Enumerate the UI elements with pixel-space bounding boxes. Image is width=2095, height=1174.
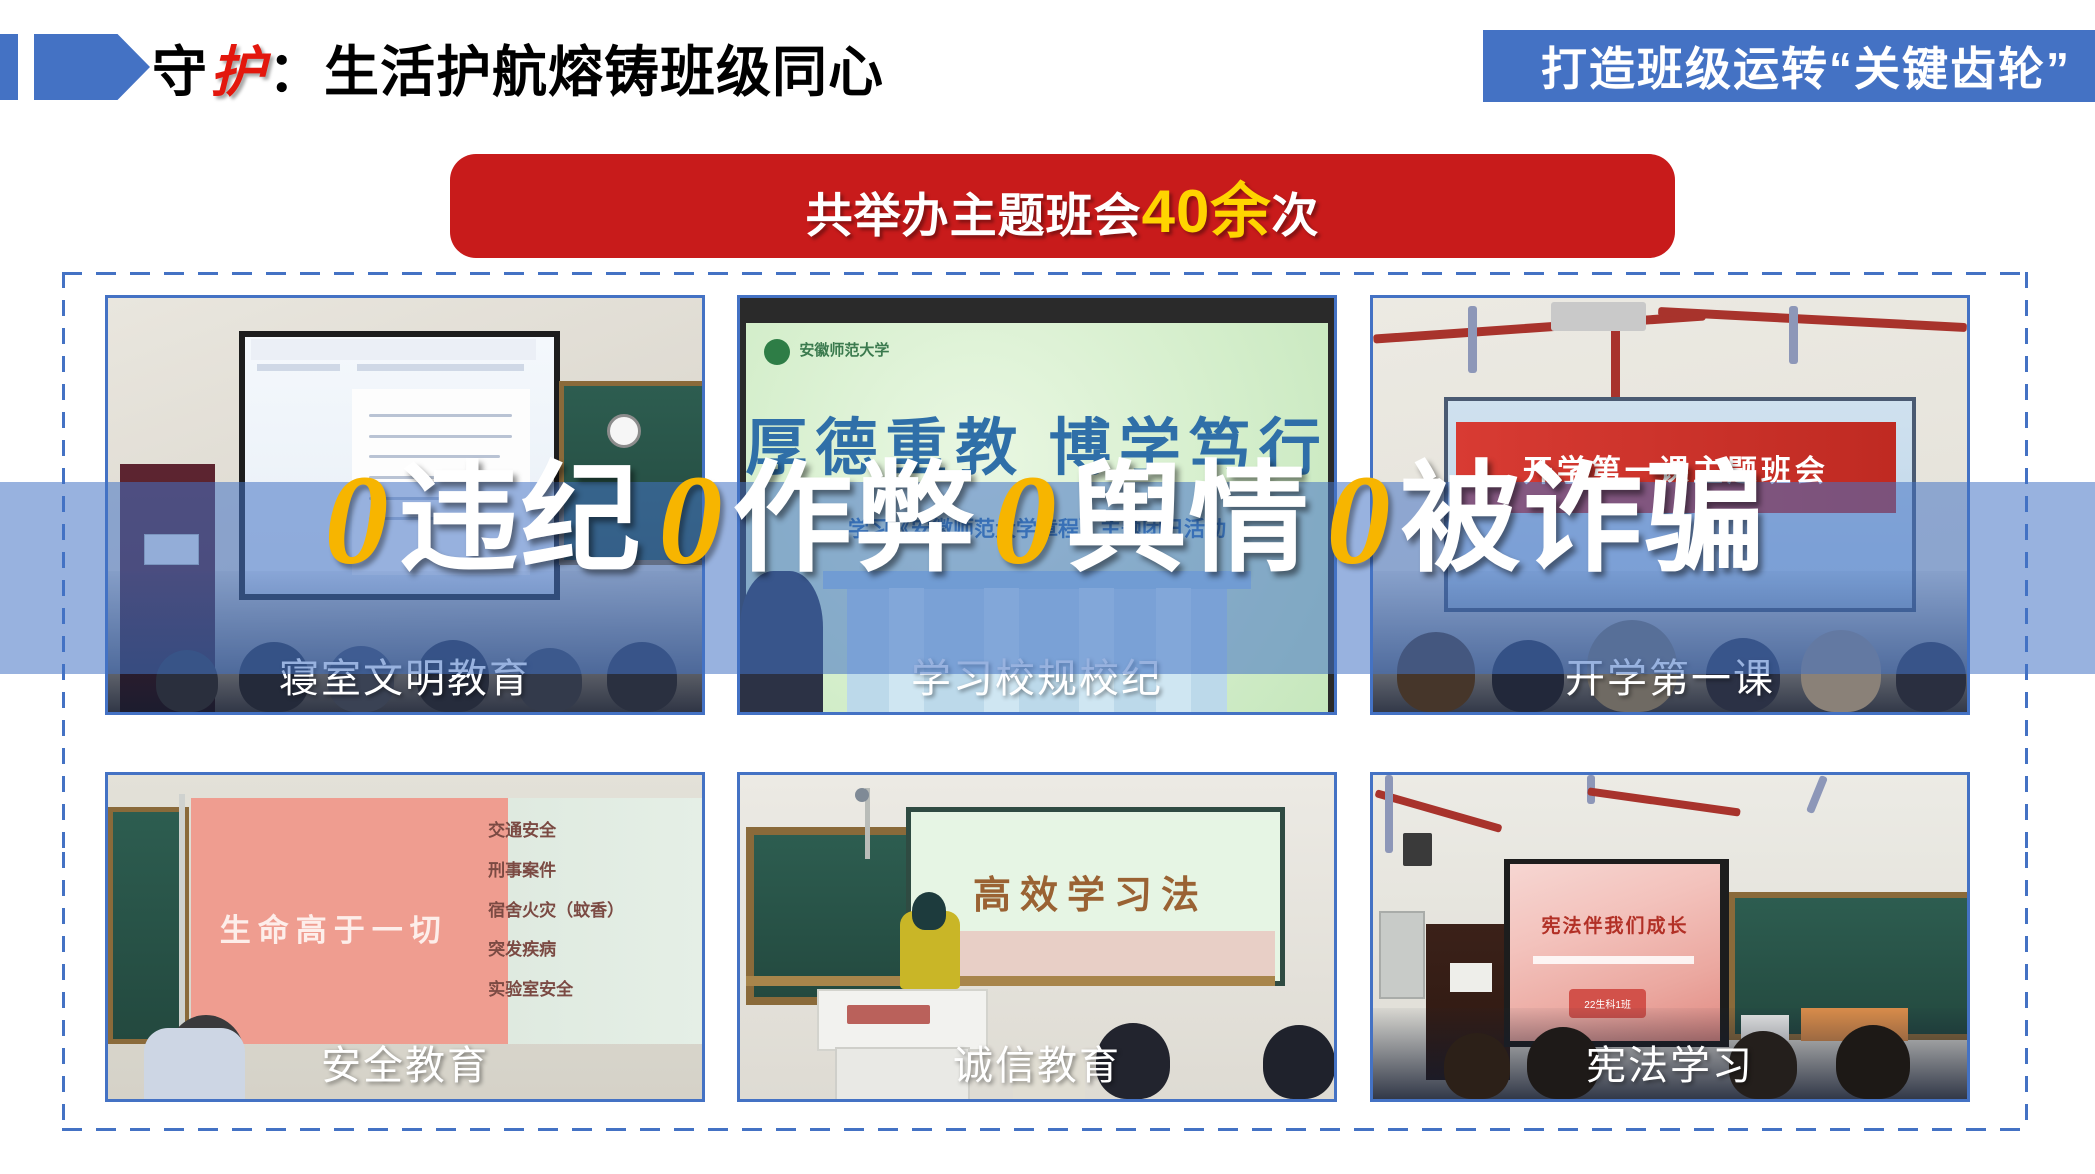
gallery-photo-5-caption: 诚信教育	[740, 1025, 1334, 1099]
header-right-banner-label: 打造班级运转“关键齿轮”	[1541, 33, 2071, 99]
header-right-banner: 打造班级运转“关键齿轮”	[1483, 30, 2095, 102]
stat-banner: 共举办主题班会40余次	[450, 154, 1675, 258]
gallery-frame-left-lower	[62, 852, 65, 1130]
gallery-photo-2-screen-text: 厚德重教 博学笃行	[740, 397, 1334, 487]
safety-list-item: 宿舍火灾（蚊香）	[488, 891, 690, 931]
safety-list-item: 突发疾病	[488, 930, 690, 970]
gallery-photo-6[interactable]: 宪法伴我们成长 22生科1班 宪法学习	[1370, 772, 1970, 1102]
gallery-frame-bottom	[62, 1128, 2028, 1131]
header-chevron-icon	[34, 34, 150, 100]
gallery-photo-4-screen-list: 交通安全 刑事案件 宿舍火灾（蚊香） 突发疾病 实验室安全	[488, 811, 690, 1011]
page-title-highlight: 护	[208, 27, 268, 107]
stat-banner-prefix: 共举办主题班会	[806, 189, 1142, 242]
overlay-band	[0, 482, 2095, 674]
gallery-frame-right-lower	[2025, 852, 2028, 1130]
slide-root: 守护：生活护航熔铸班级同心 打造班级运转“关键齿轮” 共举办主题班会40余次	[0, 0, 2095, 1174]
page-title: 守护：生活护航熔铸班级同心	[152, 30, 884, 104]
stat-banner-text: 共举办主题班会40余次	[806, 163, 1320, 250]
gallery-photo-4-screen-text: 生命高于一切	[203, 905, 464, 950]
safety-list-item: 交通安全	[488, 811, 690, 851]
stat-banner-number: 40余	[1142, 178, 1272, 245]
gallery-photo-4[interactable]: 生命高于一切 交通安全 刑事案件 宿舍火灾（蚊香） 突发疾病 实验室安全 安全教…	[105, 772, 705, 1102]
gallery-frame-top	[62, 272, 2028, 275]
gallery-photo-6-screen-text: 宪法伴我们成长	[1510, 911, 1721, 938]
page-title-rest: ：生活护航熔铸班级同心	[268, 27, 884, 107]
gallery-photo-4-caption: 安全教育	[108, 1025, 702, 1099]
stat-banner-suffix: 次	[1271, 189, 1319, 242]
header-accent-bar	[0, 34, 18, 100]
gallery-photo-2-screen-logo: 安徽师范大学	[799, 339, 889, 360]
gallery-photo-6-caption: 宪法学习	[1373, 1025, 1967, 1099]
safety-list-item: 刑事案件	[488, 851, 690, 891]
safety-list-item: 实验室安全	[488, 970, 690, 1010]
page-title-prefix: 守	[152, 27, 208, 107]
gallery-photo-5[interactable]: 高效学习法 诚信教育	[737, 772, 1337, 1102]
